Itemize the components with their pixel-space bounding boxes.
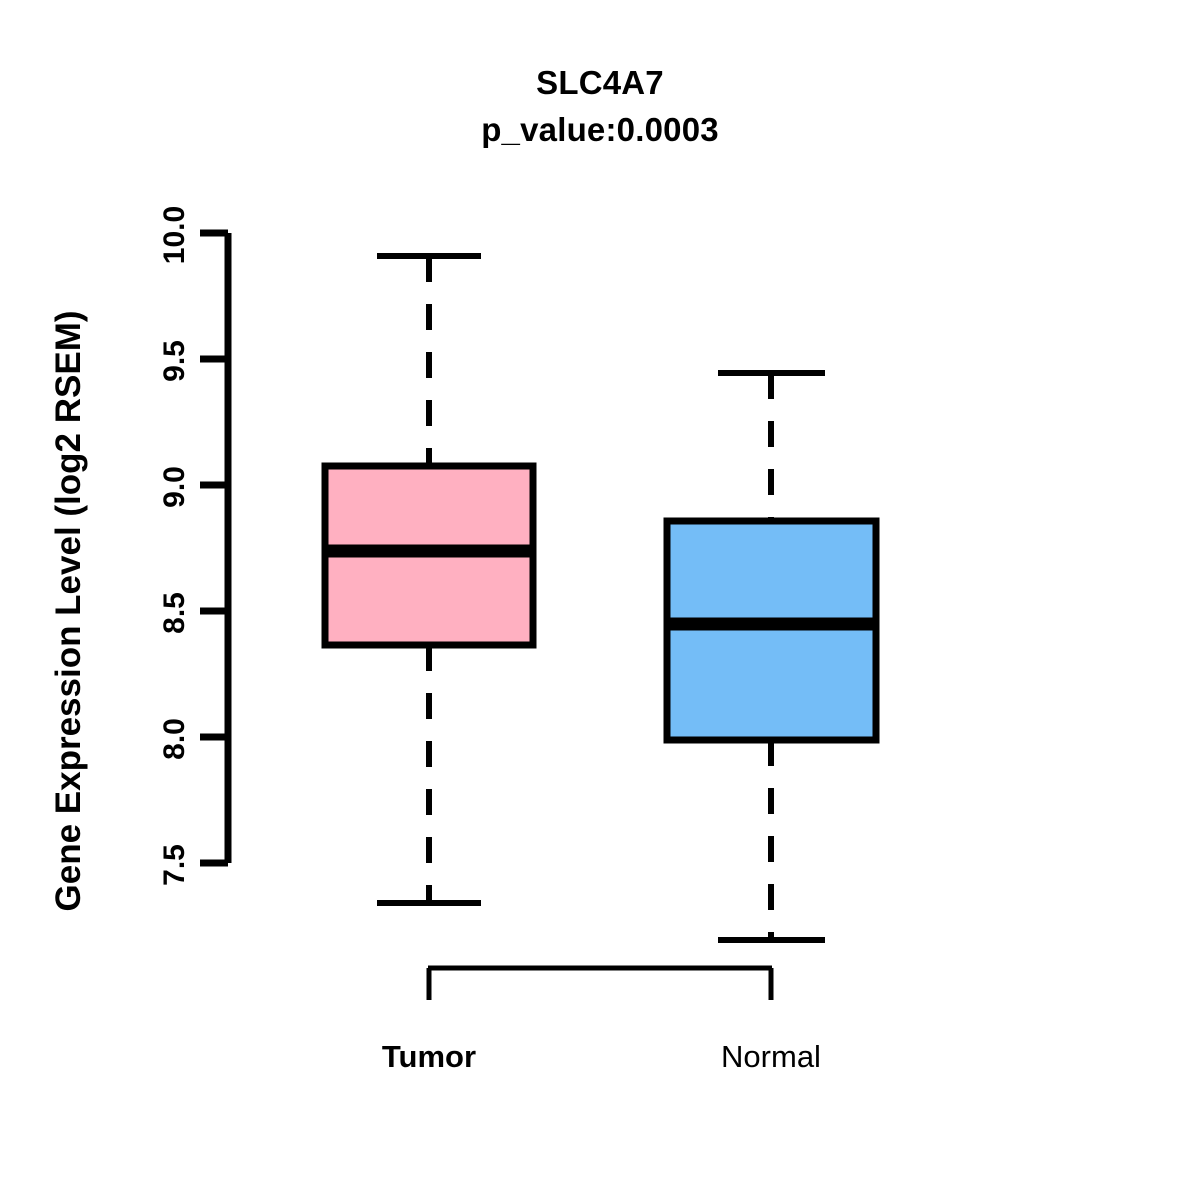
box-normal xyxy=(664,373,879,940)
y-axis xyxy=(200,233,228,863)
boxplot-figure: SLC4A7 p_value:0.0003 Gene Expression Le… xyxy=(0,0,1200,1200)
box-tumor xyxy=(322,256,536,903)
x-axis xyxy=(428,968,772,1000)
plot-canvas xyxy=(0,0,1200,1200)
